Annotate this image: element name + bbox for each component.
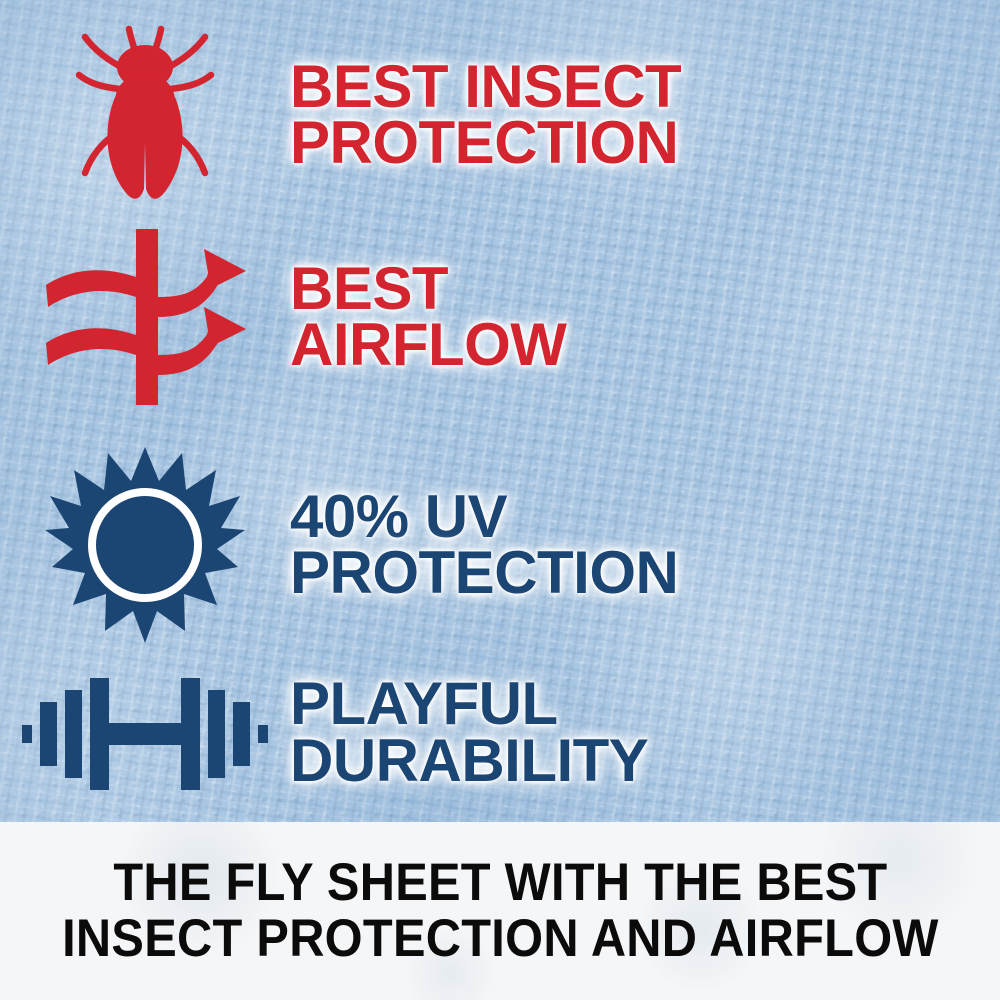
icon-cell-airflow: [0, 227, 290, 407]
feature-row-airflow: BEST AIRFLOW: [0, 222, 1000, 412]
feature-row-insect-protection: BEST INSECT PROTECTION: [0, 20, 1000, 210]
footer-caption-band: THE FLY SHEET WITH THE BEST INSECT PROTE…: [0, 822, 1000, 1000]
feature-headline-durability: PLAYFUL DURABILITY: [290, 676, 648, 789]
icon-cell-uv-protection: [0, 445, 290, 645]
dumbbell-icon: [20, 668, 270, 798]
feature-headline-insect-protection: BEST INSECT PROTECTION: [290, 59, 681, 172]
text-cell-uv-protection: 40% UV PROTECTION: [290, 489, 678, 602]
feature-headline-airflow: BEST AIRFLOW: [290, 261, 566, 374]
text-cell-airflow: BEST AIRFLOW: [290, 261, 566, 374]
sun-icon: [45, 445, 245, 645]
text-cell-durability: PLAYFUL DURABILITY: [290, 676, 648, 789]
icon-cell-insect-protection: [0, 23, 290, 208]
airflow-icon: [40, 227, 250, 407]
infographic-root: BEST INSECT PROTECTION: [0, 0, 1000, 1000]
feature-headline-uv-protection: 40% UV PROTECTION: [290, 489, 678, 602]
feature-row-uv-protection: 40% UV PROTECTION: [0, 440, 1000, 650]
feature-row-durability: PLAYFUL DURABILITY: [0, 645, 1000, 820]
text-cell-insect-protection: BEST INSECT PROTECTION: [290, 59, 681, 172]
footer-caption: THE FLY SHEET WITH THE BEST INSECT PROTE…: [62, 855, 939, 967]
icon-cell-durability: [0, 668, 290, 798]
fly-icon: [65, 23, 225, 208]
